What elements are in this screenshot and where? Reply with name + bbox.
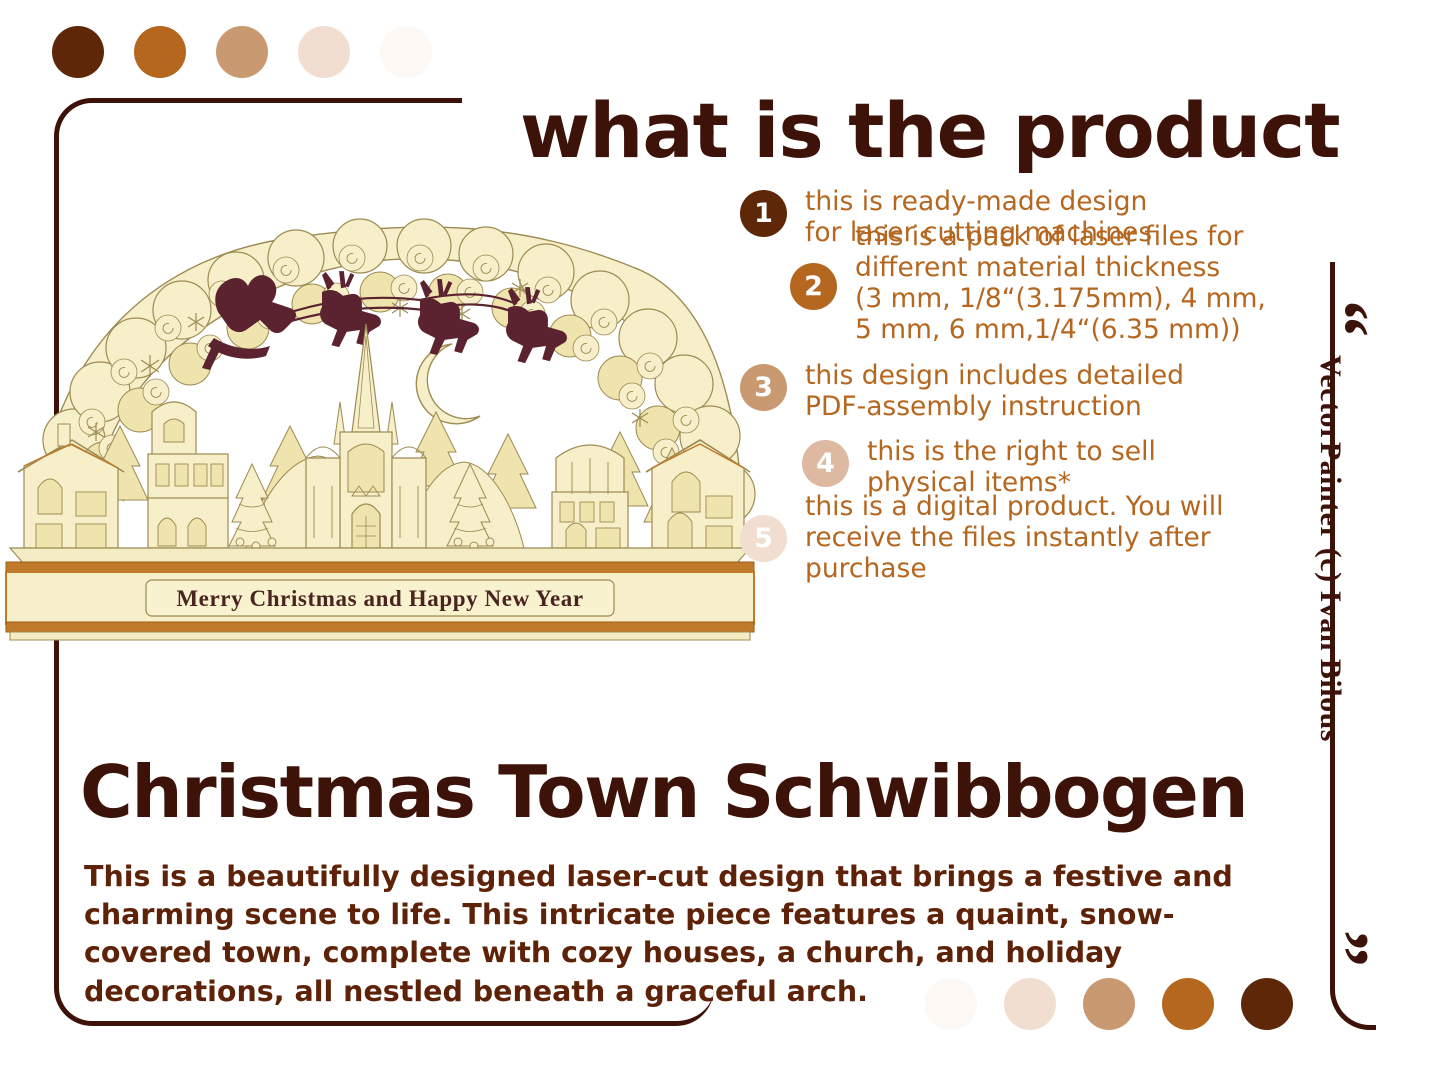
palette-dot [1241, 978, 1293, 1030]
palette-dot [1004, 978, 1056, 1030]
product-title: Christmas Town Schwibbogen [80, 750, 1247, 834]
color-palette-bottom [925, 978, 1293, 1030]
palette-dot [298, 26, 350, 78]
feature-text-4: this is the right to sell physical items… [867, 436, 1156, 499]
palette-dot [216, 26, 268, 78]
feature-badge-2: 2 [790, 263, 837, 310]
palette-dot [134, 26, 186, 78]
palette-dot [1083, 978, 1135, 1030]
church [306, 324, 426, 548]
frame-gap-bottom [712, 1012, 832, 1038]
feature-item-2: 2 this is a pack of laser files for diff… [790, 263, 1340, 346]
palette-dot [52, 26, 104, 78]
feature-text-5: this is a digital product. You will rece… [805, 491, 1223, 585]
quote-open-icon: “ [1305, 300, 1379, 337]
feature-text-3: this design includes detailed PDF-assemb… [805, 360, 1184, 423]
banner-text: Merry Christmas and Happy New Year [176, 586, 583, 611]
feature-badge-3: 3 [740, 364, 787, 411]
palette-dot [925, 978, 977, 1030]
feature-item-3: 3 this design includes detailed PDF-asse… [740, 364, 1340, 423]
page-title: what is the product [520, 86, 1340, 175]
feature-list: 1 this is ready-made design for laser cu… [740, 190, 1340, 588]
house-right-tall [552, 445, 628, 548]
quote-close-icon: ” [1305, 930, 1379, 967]
palette-dot [1162, 978, 1214, 1030]
product-illustration: Merry Christmas and Happy New Year [0, 196, 760, 656]
color-palette-top [52, 26, 432, 78]
palette-dot [380, 26, 432, 78]
attribution-text: VectorPainter (c) Ivan Bilous [1313, 355, 1347, 955]
feature-badge-1: 1 [740, 190, 787, 237]
house-left-tall [148, 402, 228, 548]
feature-badge-4: 4 [802, 440, 849, 487]
feature-badge-5: 5 [740, 515, 787, 562]
feature-item-5: 5 this is a digital product. You will re… [740, 515, 1340, 585]
feature-text-2: this is a pack of laser files for differ… [855, 221, 1266, 346]
